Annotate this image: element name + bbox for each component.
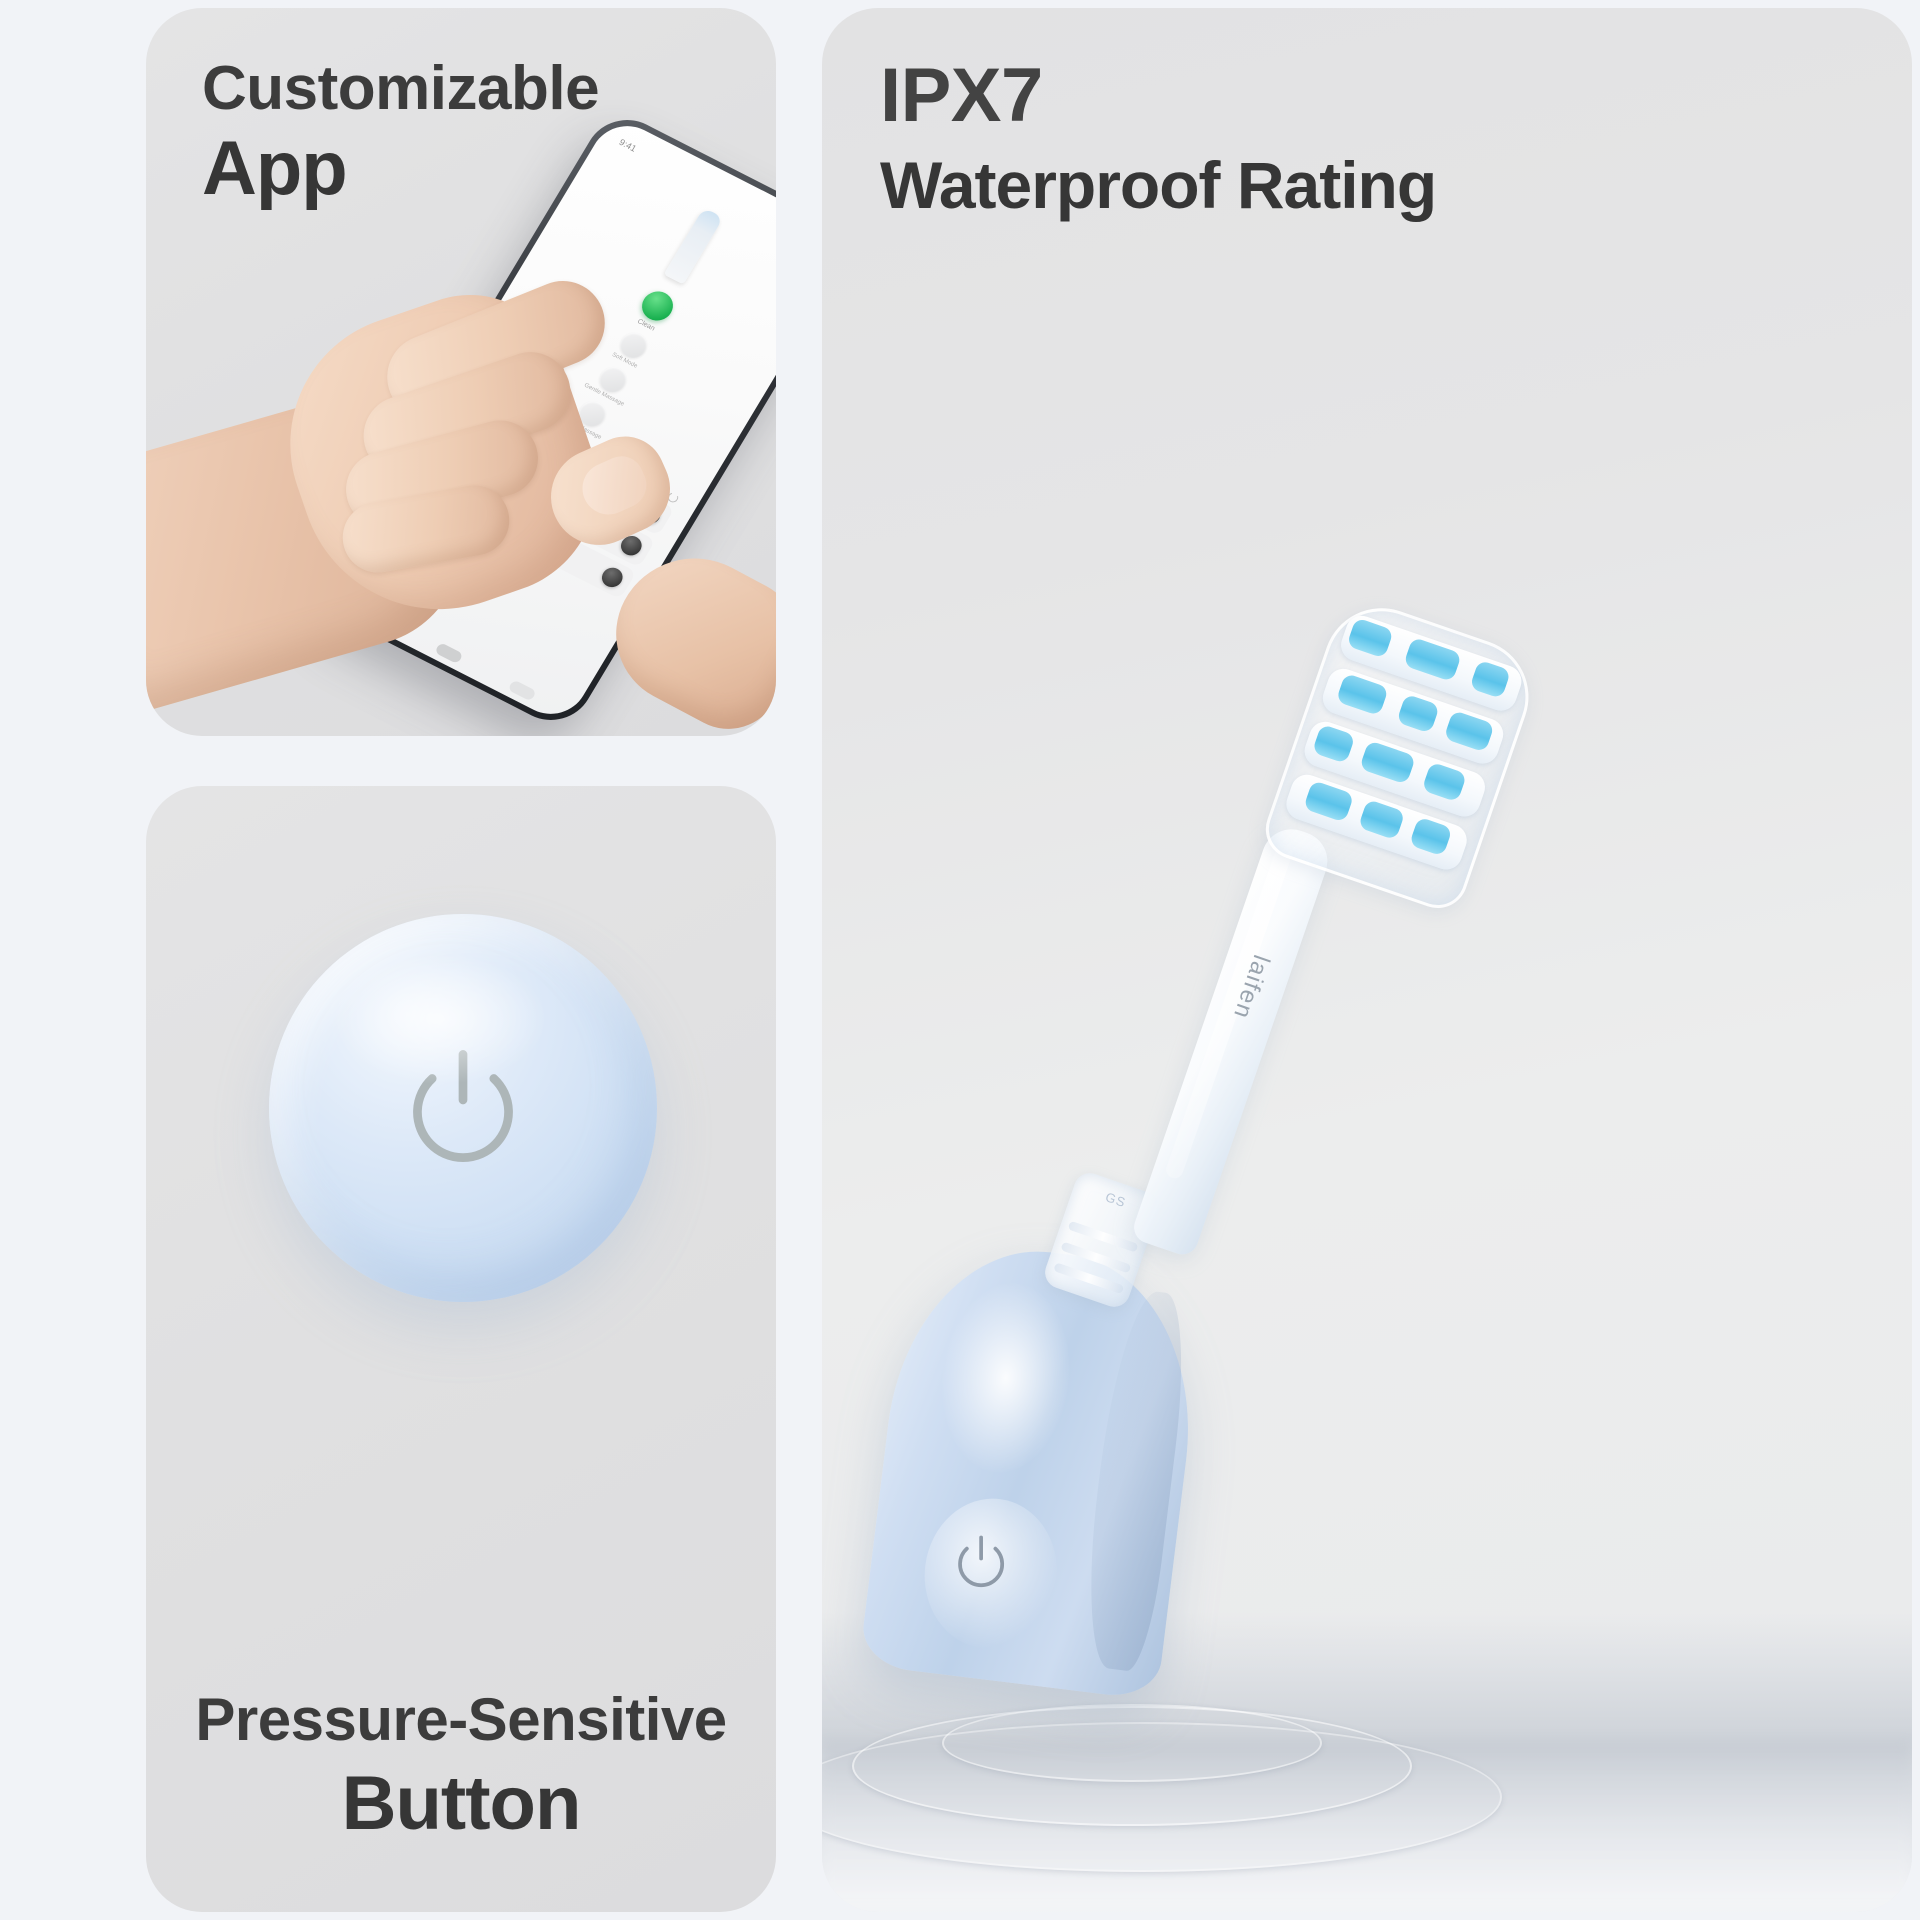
power-button-closeup[interactable] bbox=[269, 914, 657, 1302]
toothbrush-stem: laifen bbox=[1130, 821, 1336, 1259]
brush-thumbnail bbox=[664, 208, 724, 285]
product-feature-collage: Customizable App 9:41 Clean bbox=[0, 0, 1920, 1920]
hand-holding-phone-photo: 9:41 Clean Soft Mode Gentle Massag bbox=[146, 8, 776, 736]
tab-modes[interactable] bbox=[434, 642, 463, 664]
tab-more[interactable] bbox=[507, 679, 536, 701]
button-caption: Pressure-Sensitive Button bbox=[146, 1682, 776, 1850]
panel-ipx7-waterproof: IPX7 Waterproof Rating bbox=[822, 8, 1912, 1912]
button-caption-line1: Pressure-Sensitive bbox=[146, 1682, 776, 1758]
panel-pressure-sensitive-button: Pressure-Sensitive Button bbox=[146, 786, 776, 1912]
water-ripple bbox=[942, 1704, 1322, 1782]
button-caption-line2: Button bbox=[146, 1758, 776, 1850]
slider-knob-icon[interactable] bbox=[598, 564, 626, 590]
power-icon[interactable] bbox=[950, 1531, 1012, 1593]
toothbrush-in-water-photo: GS laifen bbox=[822, 8, 1912, 1912]
panel-customizable-app: Customizable App 9:41 Clean bbox=[146, 8, 776, 736]
handle-highlight bbox=[932, 1275, 1080, 1479]
status-time: 9:41 bbox=[617, 137, 638, 154]
collar-marking: GS bbox=[1104, 1189, 1129, 1210]
power-icon bbox=[396, 1041, 530, 1175]
toothbrush-handle bbox=[859, 1235, 1209, 1700]
